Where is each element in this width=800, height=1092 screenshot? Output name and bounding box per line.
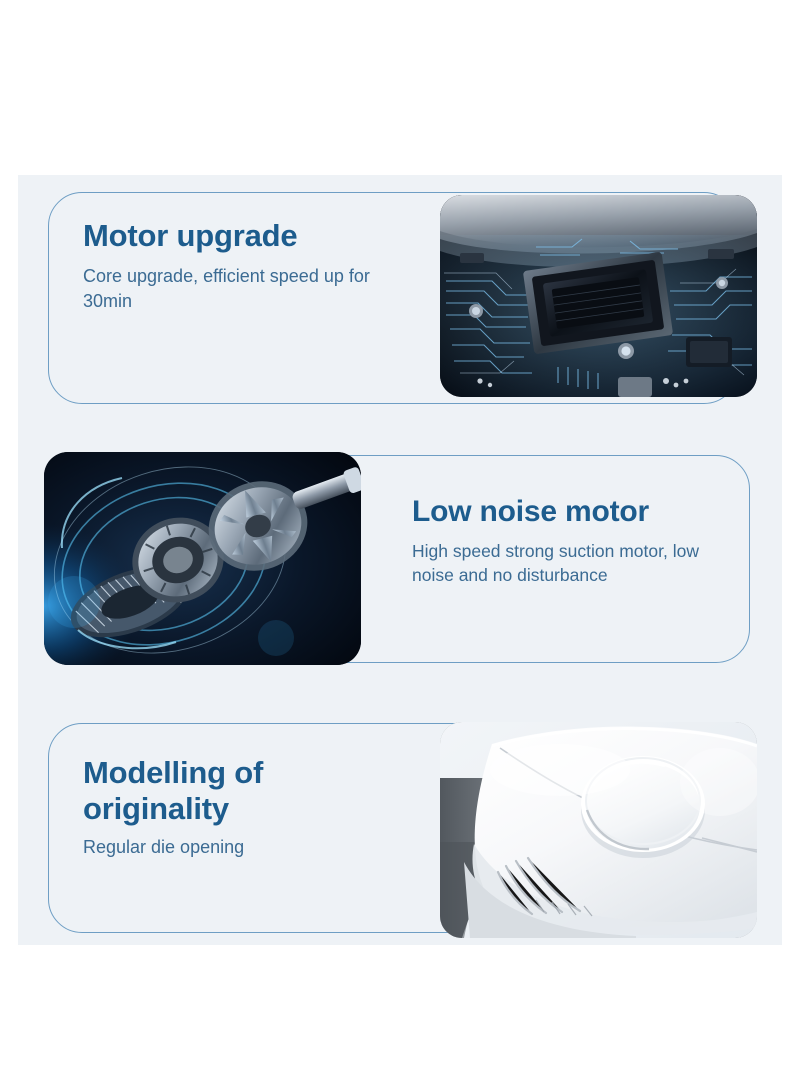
feature-text-modelling-of-originality: Modelling of originality Regular die ope…	[83, 755, 413, 860]
feature-title: Motor upgrade	[83, 218, 413, 254]
feature-title: Low noise motor	[412, 495, 742, 530]
feature-title: Modelling of originality	[83, 755, 413, 827]
feature-text-low-noise-motor: Low noise motor High speed strong suctio…	[412, 495, 742, 587]
robot-vacuum-image	[440, 722, 757, 938]
circuit-board-image	[440, 195, 757, 397]
feature-description: Core upgrade, efficient speed up for 30m…	[83, 264, 413, 314]
feature-description: High speed strong suction motor, low noi…	[412, 539, 742, 587]
feature-description: Regular die opening	[83, 835, 413, 860]
product-feature-page: Motor upgrade Core upgrade, efficient sp…	[0, 0, 800, 1092]
feature-text-motor-upgrade: Motor upgrade Core upgrade, efficient sp…	[83, 218, 413, 314]
motor-cutaway-image	[44, 452, 361, 665]
